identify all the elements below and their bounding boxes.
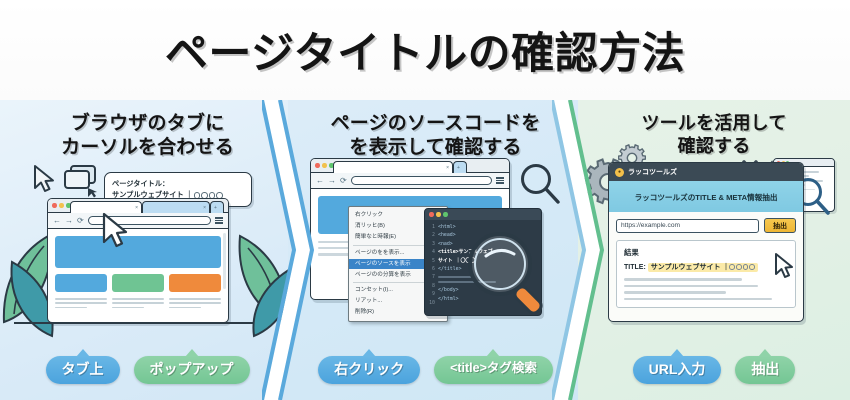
line-number: 8	[425, 282, 435, 290]
result-placeholder-rows	[624, 278, 788, 300]
reload-icon[interactable]: ⟳	[340, 177, 347, 185]
browser-tabstrip: × × +	[70, 199, 228, 213]
text-placeholder-col	[169, 298, 221, 308]
title-band: ページタイトルの確認方法	[0, 0, 850, 100]
new-tab-button[interactable]: +	[210, 201, 224, 213]
reload-icon[interactable]: ⟳	[77, 217, 84, 225]
tool-window-title: ラッコツールズ	[628, 167, 677, 177]
tool-form: https://example.com 抽出	[609, 212, 803, 233]
tool-headline-bar: ラッコツールズのTITLE & META情報抽出	[609, 181, 803, 212]
panel-use-tool: ツールを活用して 確認する	[578, 100, 850, 400]
forward-arrow-icon[interactable]: →	[328, 177, 336, 185]
mouse-cursor-icon	[102, 212, 132, 250]
new-tab-button[interactable]: +	[453, 161, 467, 173]
text-placeholder-rows	[55, 298, 221, 308]
mouse-cursor-icon	[33, 164, 57, 194]
card-row	[55, 274, 221, 292]
browser-toolbar: ← → ⟳	[48, 213, 228, 229]
code-window-titlebar	[425, 209, 541, 220]
line-number: 6	[425, 265, 435, 273]
panel-2-heading: ページのソースコードを を表示して確認する	[288, 112, 583, 161]
hero-banner	[55, 236, 221, 268]
window-close-icon[interactable]	[429, 212, 434, 217]
content-card	[169, 274, 221, 292]
back-arrow-icon[interactable]: ←	[316, 177, 324, 185]
window-minimize-icon[interactable]	[436, 212, 441, 217]
tool-window[interactable]: ● ラッコツールズ ラッコツールズのTITLE & META情報抽出 https…	[608, 162, 804, 322]
line-number: 7	[425, 273, 435, 281]
window-close-icon[interactable]	[315, 163, 320, 168]
tool-headline: ラッコツールズのTITLE & META情報抽出	[635, 193, 778, 202]
panel-2-heading-line1: ページのソースコードを	[288, 112, 583, 136]
panels-row: ブラウザのタブに カーソルを合わせる	[0, 100, 850, 400]
result-card: 結果 TITLE: サンプルウェブサイト ｜	[616, 240, 796, 308]
browser-toolbar: ← → ⟳	[311, 173, 509, 189]
line-number: 10	[425, 299, 435, 307]
panel-1-heading-line2: カーソルを合わせる	[0, 136, 295, 160]
pill-popup[interactable]: ポップアップ	[134, 356, 250, 385]
browser-window[interactable]: × × + ← → ⟳	[47, 198, 229, 323]
line-number-gutter: 1 2 3 4 5 6 7 8 9 10	[425, 223, 438, 307]
tool-window-titlebar: ● ラッコツールズ	[609, 163, 803, 181]
line-number: 3	[425, 240, 435, 248]
line-number: 4	[425, 248, 435, 256]
panel-1-heading: ブラウザのタブに カーソルを合わせる	[0, 112, 295, 161]
search-icon	[466, 230, 552, 320]
scrollbar[interactable]	[223, 233, 226, 289]
panel-3-pills: URL入力 抽出	[578, 356, 850, 385]
panel-2-heading-line2: を表示して確認する	[288, 136, 583, 160]
menu-icon[interactable]	[215, 217, 223, 223]
tab-stack-icon	[62, 164, 98, 198]
line-number: 2	[425, 231, 435, 239]
pill-right-click[interactable]: 右クリック	[318, 356, 420, 385]
panel-3-heading-line1: ツールを活用して	[578, 112, 850, 135]
result-value: サンプルウェブサイト ｜	[648, 263, 758, 272]
page-title: ページタイトルの確認方法	[165, 19, 685, 81]
back-arrow-icon[interactable]: ←	[53, 217, 61, 225]
forward-arrow-icon[interactable]: →	[65, 217, 73, 225]
browser-tab-inactive[interactable]: ×	[142, 201, 210, 213]
rakko-logo-icon: ●	[615, 168, 624, 177]
browser-tabstrip: × +	[333, 159, 509, 173]
window-maximize-icon[interactable]	[443, 212, 448, 217]
content-card	[112, 274, 164, 292]
panel-1-pills: タブ上 ポップアップ	[0, 356, 295, 385]
pill-url-input[interactable]: URL入力	[633, 356, 722, 385]
panel-view-source: ページのソースコードを を表示して確認する × +	[288, 100, 583, 400]
panel-browser-tab: ブラウザのタブに カーソルを合わせる	[0, 100, 295, 400]
extract-button[interactable]: 抽出	[764, 218, 796, 233]
browser-titlebar: × × +	[48, 199, 228, 213]
text-placeholder-col	[112, 298, 164, 308]
browser-titlebar: × +	[311, 159, 509, 173]
pill-title-tag-search[interactable]: <title>タグ検索	[434, 356, 553, 385]
result-key: TITLE:	[624, 264, 646, 271]
menu-icon[interactable]	[496, 177, 504, 183]
address-bar[interactable]	[351, 176, 492, 185]
infographic-root: ページタイトルの確認方法 ブラウザのタブに カーソルを合わせる	[0, 0, 850, 400]
mouse-cursor-icon	[774, 252, 796, 280]
content-card	[55, 274, 107, 292]
panel-2-pills: 右クリック <title>タグ検索	[288, 356, 583, 385]
page-content	[48, 229, 228, 308]
line-number: 1	[425, 223, 435, 231]
browser-tab-active[interactable]: ×	[333, 161, 453, 173]
window-minimize-icon[interactable]	[59, 203, 64, 208]
tooltip-line-1: ページタイトル：	[112, 178, 244, 189]
search-icon	[518, 162, 562, 208]
url-input[interactable]: https://example.com	[616, 219, 759, 233]
result-title-row: TITLE: サンプルウェブサイト ｜	[624, 262, 788, 272]
line-number: 9	[425, 290, 435, 298]
text-placeholder-col	[55, 298, 107, 308]
panel-1-heading-line1: ブラウザのタブに	[0, 112, 295, 136]
pill-extract[interactable]: 抽出	[735, 356, 795, 385]
ground-line	[14, 322, 254, 324]
window-minimize-icon[interactable]	[322, 163, 327, 168]
pill-tab-上[interactable]: タブ上	[46, 356, 120, 385]
masked-circles-icon	[729, 264, 754, 270]
window-close-icon[interactable]	[52, 203, 57, 208]
result-heading: 結果	[624, 247, 788, 258]
line-number: 5	[425, 257, 435, 265]
